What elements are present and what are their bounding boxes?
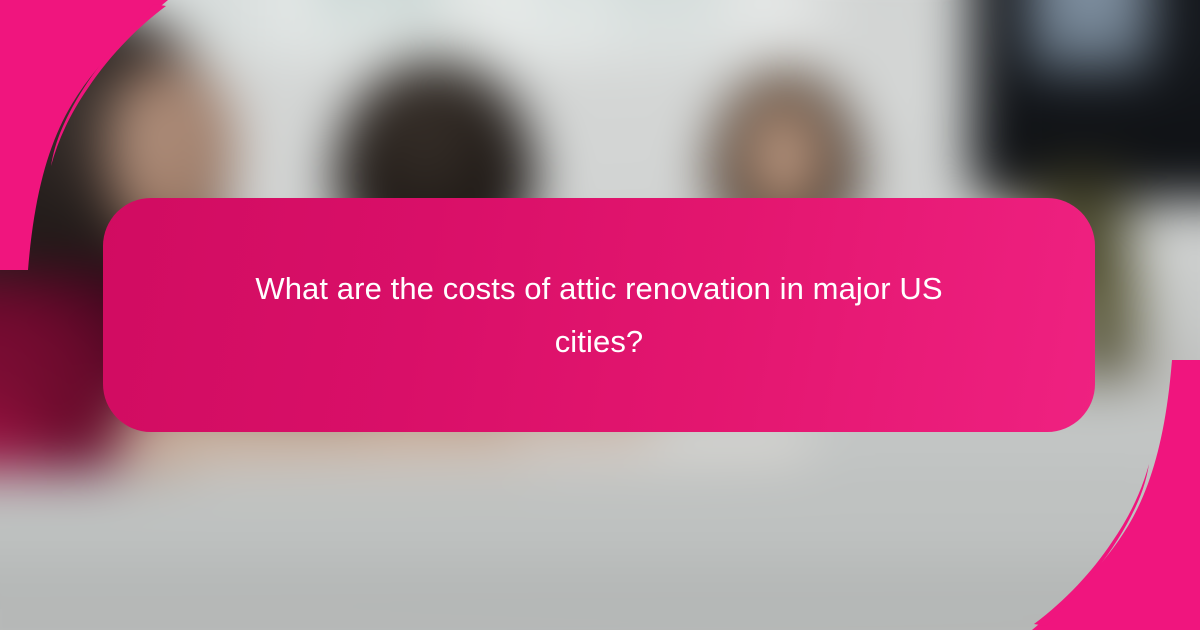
shelf-pane — [675, 0, 711, 35]
shelf-pane — [390, 0, 424, 35]
background-table — [0, 470, 1190, 610]
background-window-pane — [1030, 0, 1150, 70]
question-text: What are the costs of attic renovation i… — [249, 262, 949, 369]
shelf-pane — [325, 0, 359, 35]
share-card-canvas: What are the costs of attic renovation i… — [0, 0, 1200, 630]
shelf-pane — [545, 0, 573, 35]
question-card: What are the costs of attic renovation i… — [103, 198, 1095, 432]
background-shelving — [90, 0, 850, 60]
shelf-pane — [610, 0, 650, 35]
